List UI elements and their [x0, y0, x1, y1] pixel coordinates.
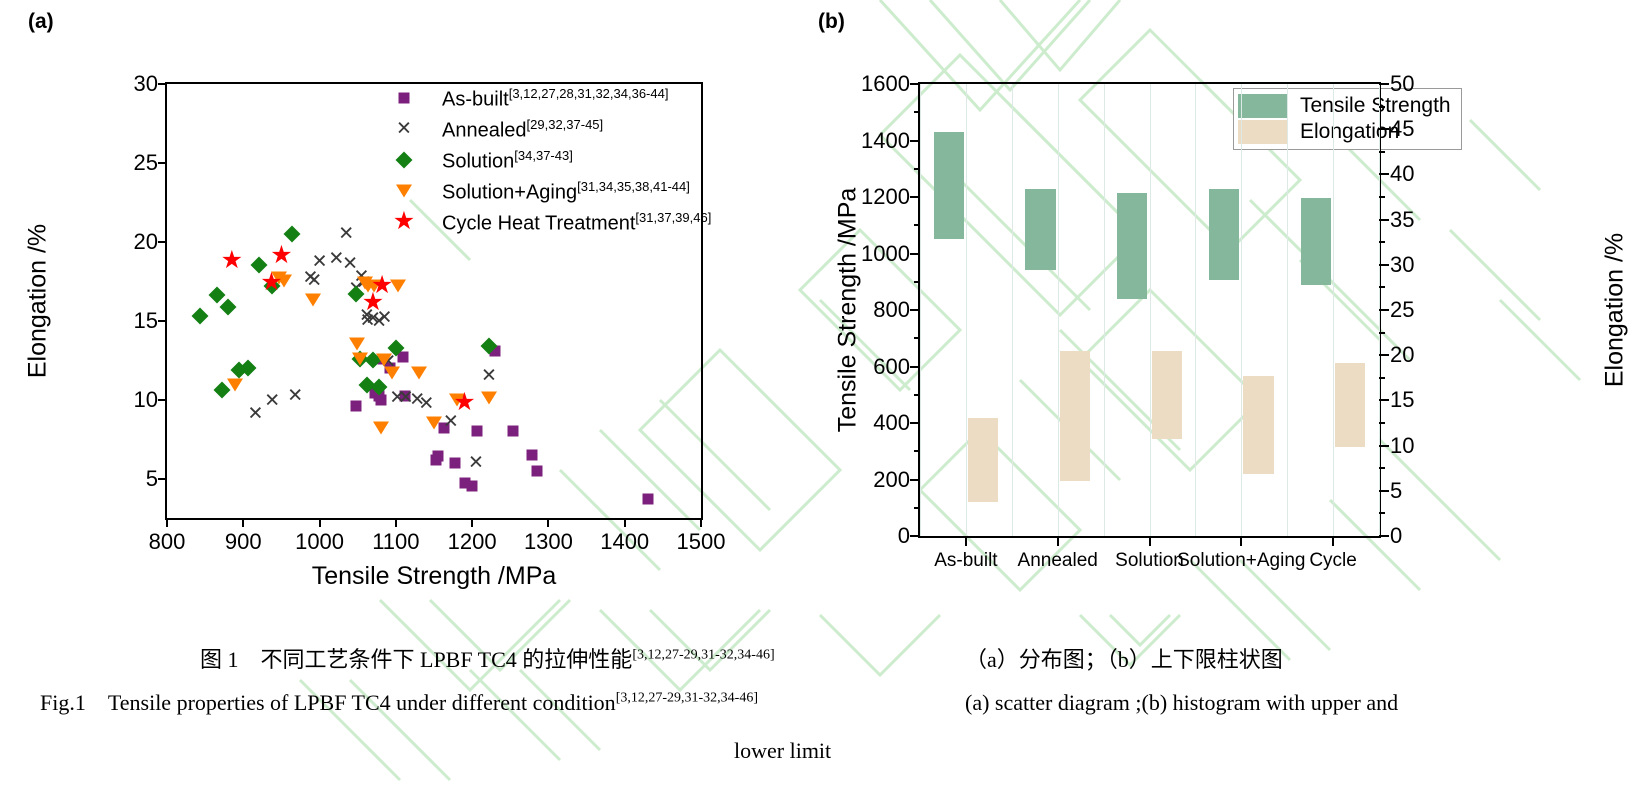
scatter-x-tick-label: 800: [149, 529, 186, 555]
scatter-y-tick-mark: [158, 83, 167, 85]
scatter-y-tick-mark: [158, 399, 167, 401]
scatter-y-axis-label: Elongation /%: [24, 224, 53, 378]
caption-chinese: 图 1 不同工艺条件下 LPBF TC4 的拉伸性能[3,12,27-29,31…: [200, 642, 775, 674]
scatter-x-tick-label: 1500: [677, 529, 726, 555]
bar-left-tick-mark-minor: [914, 111, 920, 113]
bar-left-axis-label: Tensile Strength /MPa: [834, 188, 863, 433]
bar-right-tick-mark: [1379, 535, 1389, 537]
bar-right-tick-mark-minor: [1379, 512, 1385, 514]
cross-marker-icon: ✕: [287, 387, 303, 406]
bar-right-tick-label: 50: [1390, 71, 1414, 97]
triangle-marker-icon: [352, 352, 368, 365]
star-marker-icon: ★: [270, 243, 292, 268]
bar-tensile-strength: [1025, 189, 1055, 271]
star-marker-icon: ★: [260, 270, 282, 295]
bar-right-tick-mark: [1379, 399, 1389, 401]
scatter-y-tick-label: 25: [134, 150, 158, 176]
scatter-y-tick-mark: [158, 162, 167, 164]
cross-marker-icon: ✕: [264, 392, 280, 411]
bar-gridline: [1287, 84, 1288, 536]
bar-left-tick-mark-minor: [914, 394, 920, 396]
triangle-marker-icon: [227, 379, 243, 392]
bar-category-label: Solution+Aging: [1177, 550, 1305, 572]
triangle-marker-icon: [426, 417, 442, 430]
bar-left-tick-label: 400: [873, 410, 910, 436]
square-marker-icon: [375, 394, 386, 405]
bar-left-tick-mark: [910, 140, 920, 142]
bar-category-label: Annealed: [1018, 550, 1098, 572]
bar-left-tick-label: 0: [898, 523, 910, 549]
scatter-y-tick-mark: [158, 320, 167, 322]
scatter-x-tick-label: 1100: [372, 529, 419, 555]
bar-left-tick-mark: [910, 83, 920, 85]
square-marker-icon: [531, 465, 542, 476]
bar-left-tick-label: 1600: [861, 71, 910, 97]
triangle-marker-icon: [305, 294, 321, 307]
bar-right-tick-mark: [1379, 490, 1389, 492]
bar-x-tick-mark: [1057, 536, 1059, 546]
square-marker-icon: [432, 451, 443, 462]
bar-left-tick-mark: [910, 253, 920, 255]
bar-right-tick-label: 0: [1390, 523, 1402, 549]
bar-right-tick-label: 25: [1390, 297, 1414, 323]
bar-left-tick-mark-minor: [914, 507, 920, 509]
caption-english-sub2: lower limit: [734, 738, 831, 764]
bar-right-tick-mark: [1379, 309, 1389, 311]
bar-left-tick-mark: [910, 422, 920, 424]
scatter-x-tick-mark: [166, 518, 168, 527]
triangle-marker-icon: [349, 338, 365, 351]
cross-marker-icon: ✕: [248, 404, 264, 423]
caption-english: Fig.1 Tensile properties of LPBF TC4 und…: [40, 690, 758, 716]
bar-right-tick-label: 5: [1390, 478, 1402, 504]
caption-chinese-refs: [3,12,27-29,31-32,34-46]: [632, 648, 774, 663]
triangle-marker-icon: [481, 392, 497, 405]
scatter-y-tick-mark: [158, 478, 167, 480]
bar-left-tick-mark-minor: [914, 281, 920, 283]
caption-chinese-sub: （a）分布图；（b）上下限柱状图: [965, 642, 1283, 674]
bar-right-tick-mark: [1379, 219, 1389, 221]
scatter-y-tick-label: 30: [134, 71, 158, 97]
scatter-x-tick-mark: [242, 518, 244, 527]
scatter-x-tick-mark: [624, 518, 626, 527]
scatter-x-tick-mark: [319, 518, 321, 527]
bar-x-tick-mark: [1240, 536, 1242, 546]
square-marker-icon: [642, 494, 653, 505]
bar-right-tick-mark-minor: [1379, 467, 1385, 469]
bar-gridline: [920, 84, 921, 536]
bar-category-label: Cycle: [1309, 550, 1357, 572]
star-marker-icon: ★: [221, 248, 243, 273]
diamond-marker-icon: [191, 307, 208, 324]
cross-marker-icon: ✕: [306, 272, 322, 291]
bar-right-axis-label: Elongation /%: [1601, 233, 1630, 387]
bar-gridline: [1012, 84, 1013, 536]
bar-tensile-strength: [1209, 189, 1239, 281]
scatter-y-tick-label: 20: [134, 229, 158, 255]
bar-chart-panel: Tensile Strength /MPa Elongation /% 0200…: [820, 0, 1643, 610]
bar-tensile-strength: [934, 132, 964, 239]
cross-marker-icon: ✕: [338, 224, 354, 243]
cross-marker-icon: ✕: [418, 395, 434, 414]
bar-right-tick-mark-minor: [1379, 286, 1385, 288]
bar-left-tick-mark: [910, 366, 920, 368]
bar-gridline: [1195, 84, 1196, 536]
bar-right-tick-label: 30: [1390, 252, 1414, 278]
square-marker-icon: [398, 352, 409, 363]
bar-right-tick-label: 45: [1390, 116, 1414, 142]
scatter-x-tick-label: 1300: [524, 529, 573, 555]
bar-gridline: [1241, 84, 1242, 536]
bar-left-tick-mark: [910, 479, 920, 481]
square-marker-icon: [507, 426, 518, 437]
triangle-marker-icon: [411, 366, 427, 379]
scatter-y-tick-label: 15: [134, 308, 158, 334]
bar-elongation: [1243, 376, 1273, 474]
caption-english-refs: [3,12,27-29,31-32,34-46]: [616, 691, 758, 706]
bar-right-tick-mark: [1379, 83, 1389, 85]
bar-left-tick-mark: [910, 309, 920, 311]
bar-x-tick-mark: [1149, 536, 1151, 546]
bar-category-label: As-built: [934, 550, 997, 572]
star-marker-icon: ★: [453, 390, 475, 415]
diamond-marker-icon: [220, 298, 237, 315]
scatter-x-tick-mark: [395, 518, 397, 527]
bar-left-tick-mark-minor: [914, 224, 920, 226]
bar-right-tick-mark: [1379, 128, 1389, 130]
square-marker-icon: [467, 481, 478, 492]
bar-right-tick-label: 40: [1390, 161, 1414, 187]
bar-elongation: [1335, 363, 1365, 447]
bar-plot-area: 0200400600800100012001400160005101520253…: [918, 82, 1381, 538]
bar-left-tick-mark-minor: [914, 450, 920, 452]
square-marker-icon: [450, 457, 461, 468]
scatter-x-tick-label: 1400: [600, 529, 649, 555]
scatter-plot-area: 5101520253080090010001100120013001400150…: [165, 82, 703, 520]
scatter-y-tick-label: 5: [146, 466, 158, 492]
bar-right-tick-label: 20: [1390, 342, 1414, 368]
bar-left-tick-label: 800: [873, 297, 910, 323]
bar-left-tick-label: 1400: [861, 128, 910, 154]
scatter-x-axis-label: Tensile Strength /MPa: [312, 562, 557, 591]
panel-label-b: (b): [818, 10, 845, 34]
bar-gridline: [1058, 84, 1059, 536]
bar-gridline: [1150, 84, 1151, 536]
bar-elongation: [1152, 351, 1182, 440]
bar-right-tick-label: 15: [1390, 387, 1414, 413]
caption-chinese-text: 图 1 不同工艺条件下 LPBF TC4 的拉伸性能: [200, 647, 632, 672]
bar-x-tick-mark: [965, 536, 967, 546]
bar-right-tick-label: 35: [1390, 207, 1414, 233]
cross-marker-icon: ✕: [312, 253, 328, 272]
scatter-x-tick-mark: [700, 518, 702, 527]
bar-left-tick-mark-minor: [914, 168, 920, 170]
bar-left-tick-label: 1200: [861, 184, 910, 210]
triangle-marker-icon: [373, 422, 389, 435]
scatter-x-tick-label: 900: [225, 529, 262, 555]
scatter-y-tick-mark: [158, 241, 167, 243]
bar-right-tick-mark-minor: [1379, 332, 1385, 334]
bar-right-tick-mark-minor: [1379, 106, 1385, 108]
bar-gridline: [966, 84, 967, 536]
scatter-x-tick-mark: [471, 518, 473, 527]
bar-category-label: Solution: [1115, 550, 1184, 572]
bar-right-tick-mark-minor: [1379, 422, 1385, 424]
bar-left-tick-label: 200: [873, 467, 910, 493]
bar-x-tick-mark: [1332, 536, 1334, 546]
bar-tensile-strength: [1301, 198, 1331, 284]
cross-marker-icon: ✕: [481, 366, 497, 385]
triangle-marker-icon: [376, 354, 392, 367]
bar-right-tick-label: 10: [1390, 433, 1414, 459]
bar-gridline: [1333, 84, 1334, 536]
bar-tensile-strength: [1117, 193, 1147, 299]
bar-right-tick-mark-minor: [1379, 377, 1385, 379]
scatter-x-tick-mark: [547, 518, 549, 527]
square-marker-icon: [472, 426, 483, 437]
cross-marker-icon: ✕: [468, 453, 484, 472]
scatter-y-tick-label: 10: [134, 387, 158, 413]
diamond-marker-icon: [284, 225, 301, 242]
bar-right-tick-mark: [1379, 445, 1389, 447]
bar-right-tick-mark: [1379, 264, 1389, 266]
bar-right-tick-mark: [1379, 173, 1389, 175]
bar-left-tick-mark-minor: [914, 337, 920, 339]
bar-right-tick-mark-minor: [1379, 196, 1385, 198]
bar-right-tick-mark: [1379, 354, 1389, 356]
square-marker-icon: [351, 400, 362, 411]
bar-left-tick-mark: [910, 196, 920, 198]
bar-gridline: [1104, 84, 1105, 536]
square-marker-icon: [526, 449, 537, 460]
caption-english-sub: (a) scatter diagram ;(b) histogram with …: [965, 690, 1398, 716]
scatter-x-tick-label: 1000: [295, 529, 344, 555]
scatter-chart-panel: Elongation /% Tensile Strength /MPa 5101…: [0, 0, 800, 610]
bar-right-tick-mark-minor: [1379, 151, 1385, 153]
bar-left-tick-label: 1000: [861, 241, 910, 267]
caption-english-text: Fig.1 Tensile properties of LPBF TC4 und…: [40, 690, 616, 715]
bar-left-tick-label: 600: [873, 354, 910, 380]
panel-label-a: (a): [28, 10, 54, 34]
star-marker-icon: ★: [371, 273, 393, 298]
bar-left-tick-mark: [910, 535, 920, 537]
bar-elongation: [1060, 351, 1090, 481]
triangle-marker-icon: [384, 366, 400, 379]
bar-right-tick-mark-minor: [1379, 241, 1385, 243]
bar-elongation: [968, 418, 998, 502]
scatter-x-tick-label: 1200: [448, 529, 497, 555]
